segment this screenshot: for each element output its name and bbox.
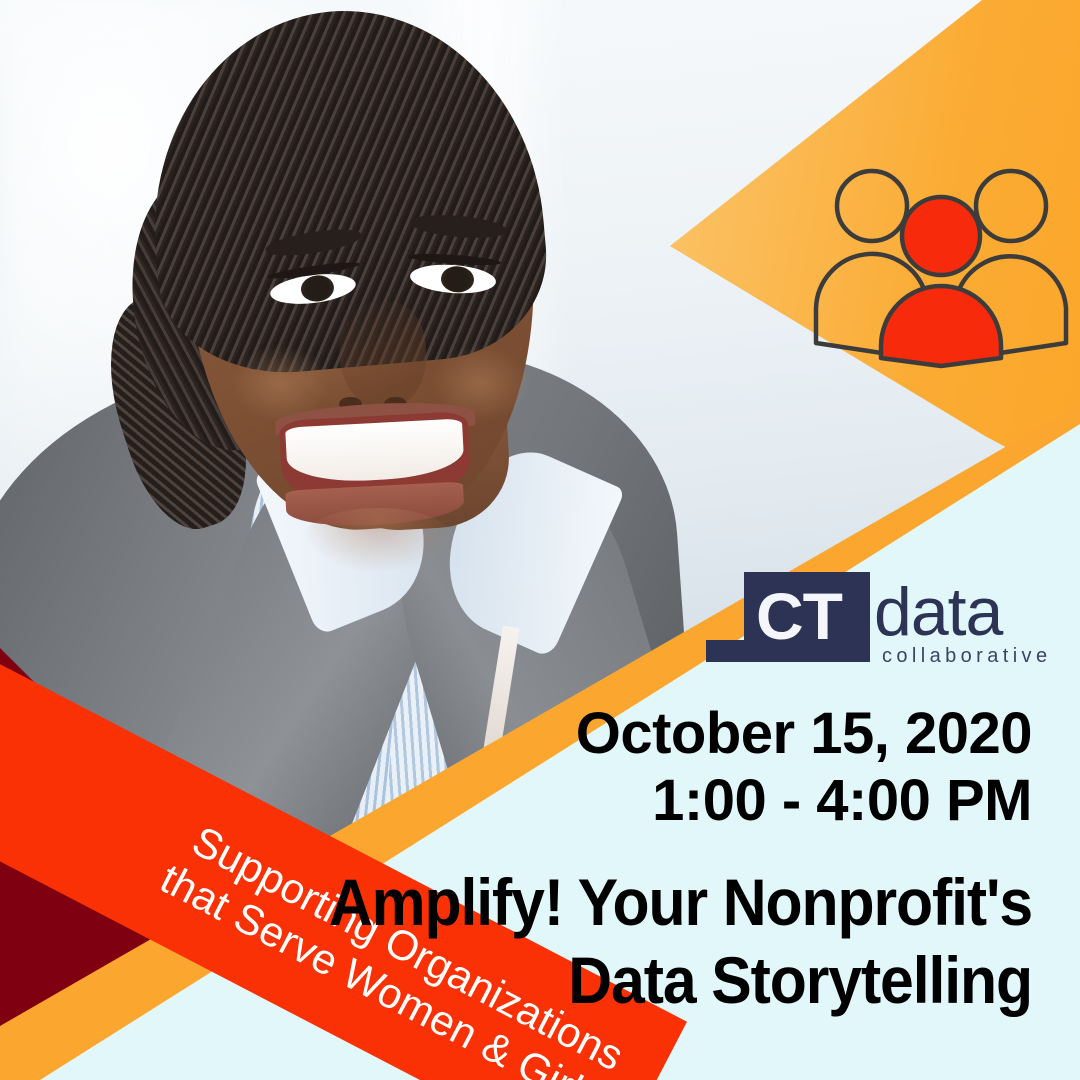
event-poster: Supporting Organizations that Serve Wome… xyxy=(0,0,1080,1080)
logo-mark-text: CT xyxy=(756,583,842,649)
event-time: 1:00 - 4:00 PM xyxy=(412,767,1032,834)
event-datetime: October 15, 2020 1:00 - 4:00 PM xyxy=(412,700,1032,835)
subject-iris-left xyxy=(300,274,336,304)
subject-chin xyxy=(302,508,453,573)
three-people-group-icon xyxy=(812,158,1070,370)
event-title: Amplify! Your Nonprofit's Data Storytell… xyxy=(192,864,1032,1020)
subject-iris-right xyxy=(441,265,476,293)
event-date: October 15, 2020 xyxy=(412,700,1032,767)
event-title-line-2: Data Storytelling xyxy=(259,942,1032,1020)
logo-wordmark: data xyxy=(874,578,1002,646)
logo-tagline: collaborative xyxy=(882,646,1052,666)
event-title-line-1: Amplify! Your Nonprofit's xyxy=(259,864,1032,942)
ctdata-collaborative-logo: CT data collaborative xyxy=(706,572,1036,674)
subject-teeth xyxy=(285,419,465,485)
